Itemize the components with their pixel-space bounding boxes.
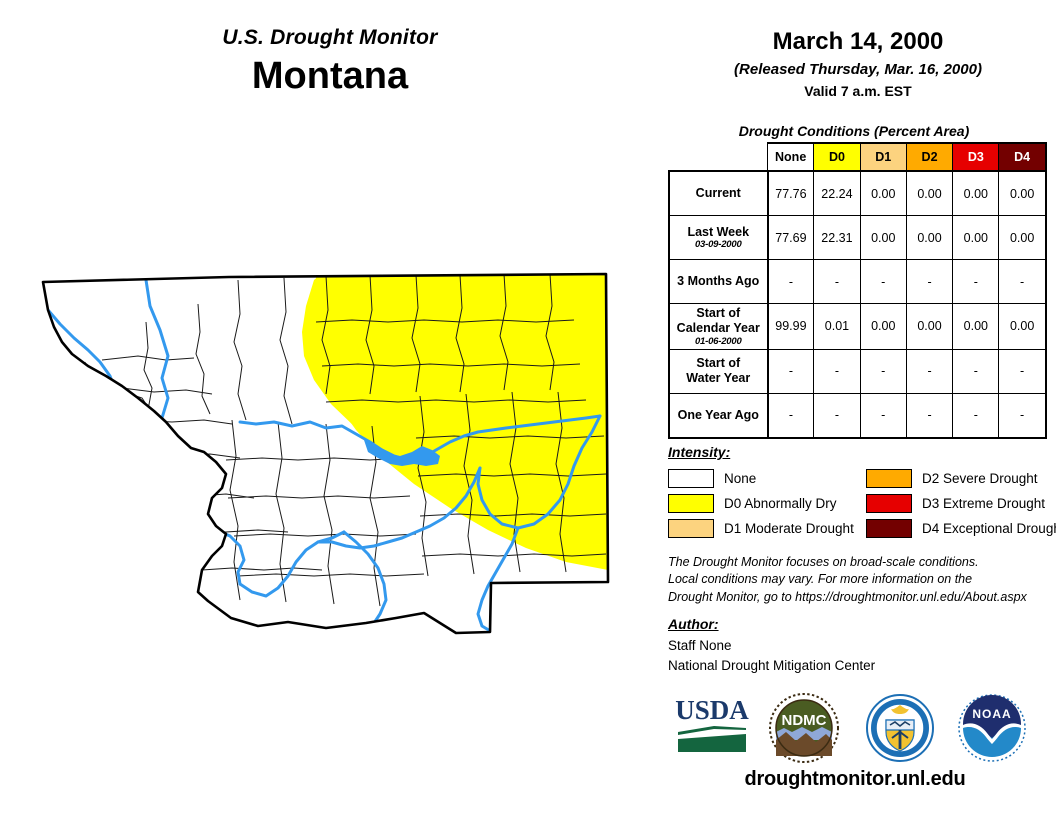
row-label-line: Last Week <box>673 225 764 240</box>
row-label-main: Current <box>673 186 764 201</box>
cell-value: - <box>881 408 885 422</box>
cell-value: - <box>789 275 793 289</box>
cell-value: 0.00 <box>917 231 941 245</box>
table-cell: 0.00 <box>906 171 952 216</box>
legend-label: D3 Extreme Drought <box>922 496 1045 511</box>
cell-value: - <box>1020 408 1024 422</box>
legend-swatch <box>866 519 912 538</box>
cell-value: - <box>881 275 885 289</box>
table-column-header-d1: D1 <box>860 143 906 171</box>
legend-column-right: D2 Severe DroughtD3 Extreme DroughtD4 Ex… <box>866 466 1056 541</box>
cell-value: - <box>927 275 931 289</box>
table-cell: - <box>814 393 860 438</box>
cell-value: - <box>835 408 839 422</box>
cell-value: 0.00 <box>1010 187 1034 201</box>
cell-value: - <box>974 364 978 378</box>
table-cell: 0.00 <box>906 304 952 350</box>
cell-value: - <box>789 408 793 422</box>
valid-date: March 14, 2000 <box>660 28 1056 57</box>
legend-item: D2 Severe Drought <box>866 466 1056 490</box>
legend-item: None <box>668 466 854 490</box>
legend-label: D2 Severe Drought <box>922 471 1038 486</box>
table-row: Start ofWater Year------ <box>669 349 1046 393</box>
row-label-date: 01-06-2000 <box>673 336 764 347</box>
cell-value: 0.00 <box>917 187 941 201</box>
legend-label: D1 Moderate Drought <box>724 521 854 536</box>
cell-value: - <box>1020 275 1024 289</box>
table-row: 3 Months Ago------ <box>669 260 1046 304</box>
legend-swatch <box>866 469 912 488</box>
table-cell: - <box>768 349 814 393</box>
montana-drought-map[interactable] <box>26 270 646 650</box>
legend-swatch <box>866 494 912 513</box>
cell-value: - <box>974 275 978 289</box>
column-header-label: D1 <box>875 150 891 164</box>
table-cell: - <box>999 393 1046 438</box>
table-row-label: Current <box>669 171 768 216</box>
table-cell: - <box>814 349 860 393</box>
row-label-main: Start ofCalendar Year <box>673 306 764 336</box>
map-svg <box>26 270 646 650</box>
table-column-header-d4: D4 <box>999 143 1046 171</box>
column-header-label: D4 <box>1014 150 1030 164</box>
cell-value: - <box>927 408 931 422</box>
table-header: NoneD0D1D2D3D4 <box>669 143 1046 171</box>
table-cell: - <box>999 260 1046 304</box>
table-cell: - <box>999 349 1046 393</box>
footer-url[interactable]: droughtmonitor.unl.edu <box>660 768 1050 791</box>
table-cell: 99.99 <box>768 304 814 350</box>
legend-swatch <box>668 494 714 513</box>
author-name: Staff None <box>668 636 875 656</box>
row-label-line: 3 Months Ago <box>673 274 764 289</box>
cell-value: 0.00 <box>964 187 988 201</box>
table-cell: - <box>814 260 860 304</box>
table-row: Current77.7622.240.000.000.000.00 <box>669 171 1046 216</box>
noaa-logo[interactable]: NOAA <box>956 692 1028 764</box>
table-cell: - <box>953 260 999 304</box>
table-cell: 0.00 <box>953 216 999 260</box>
title-block: U.S. Drought Monitor Montana <box>0 26 660 99</box>
table-row: One Year Ago------ <box>669 393 1046 438</box>
table-cell: - <box>860 260 906 304</box>
table-row-label: 3 Months Ago <box>669 260 768 304</box>
legend-label: None <box>724 471 756 486</box>
table-caption: Drought Conditions (Percent Area) <box>660 123 1048 139</box>
table-cell: - <box>768 393 814 438</box>
column-header-label: None <box>775 150 806 164</box>
usdoc-seal-logo[interactable] <box>864 692 936 764</box>
cell-value: 0.00 <box>1010 319 1034 333</box>
author-block: Staff None National Drought Mitigation C… <box>668 636 875 676</box>
table-cell: 0.00 <box>999 216 1046 260</box>
usda-logo-text: USDA <box>675 695 749 725</box>
row-label-line: Water Year <box>673 371 764 386</box>
cell-value: 22.31 <box>821 231 852 245</box>
disclaimer-line-2: Local conditions may vary. For more info… <box>668 571 1052 588</box>
table-cell: - <box>860 349 906 393</box>
table-cell: 0.00 <box>953 304 999 350</box>
row-label-line: One Year Ago <box>673 408 764 423</box>
legend-item: D3 Extreme Drought <box>866 491 1056 515</box>
cell-value: 0.00 <box>917 319 941 333</box>
page-title: U.S. Drought Monitor <box>0 26 660 49</box>
table-row-label: Start ofWater Year <box>669 349 768 393</box>
table-column-header-d3: D3 <box>953 143 999 171</box>
row-label-line: Start of <box>673 356 764 371</box>
cell-value: - <box>974 408 978 422</box>
noaa-logo-text: NOAA <box>972 707 1011 721</box>
legend-swatch <box>668 469 714 488</box>
ndmc-logo-text: NDMC <box>782 712 827 729</box>
cell-value: 0.01 <box>825 319 849 333</box>
usda-logo[interactable]: USDA <box>674 692 750 756</box>
table-body: Current77.7622.240.000.000.000.00Last We… <box>669 171 1046 438</box>
region-title: Montana <box>0 55 660 99</box>
valid-time: Valid 7 a.m. EST <box>660 83 1056 100</box>
table-row-label: Last Week03-09-2000 <box>669 216 768 260</box>
row-label-main: Last Week <box>673 225 764 240</box>
table-cell: 0.00 <box>906 216 952 260</box>
table-row: Last Week03-09-200077.6922.310.000.000.0… <box>669 216 1046 260</box>
author-heading: Author: <box>668 616 719 632</box>
row-label-main: 3 Months Ago <box>673 274 764 289</box>
table-cell: - <box>906 260 952 304</box>
table-cell: 0.00 <box>999 171 1046 216</box>
intensity-heading: Intensity: <box>668 444 730 460</box>
table-cell: 0.00 <box>860 216 906 260</box>
date-block: March 14, 2000 (Released Thursday, Mar. … <box>660 28 1056 100</box>
cell-value: 0.00 <box>871 187 895 201</box>
table-cell: 77.76 <box>768 171 814 216</box>
legend-label: D4 Exceptional Drought <box>922 521 1056 536</box>
cell-value: 0.00 <box>871 231 895 245</box>
drought-conditions-table: NoneD0D1D2D3D4 Current77.7622.240.000.00… <box>668 142 1047 439</box>
release-date: (Released Thursday, Mar. 16, 2000) <box>660 61 1056 79</box>
table-cell: - <box>906 393 952 438</box>
row-label-line: Current <box>673 186 764 201</box>
table-column-header-d0: D0 <box>814 143 860 171</box>
cell-value: 99.99 <box>775 319 806 333</box>
table-cell: - <box>906 349 952 393</box>
disclaimer-line-1: The Drought Monitor focuses on broad-sca… <box>668 554 1052 571</box>
table-row-label: One Year Ago <box>669 393 768 438</box>
row-label-line: Start of <box>673 306 764 321</box>
row-label-main: Start ofWater Year <box>673 356 764 386</box>
disclaimer-text: The Drought Monitor focuses on broad-sca… <box>668 554 1052 606</box>
table-cell: 0.00 <box>860 304 906 350</box>
cell-value: 0.00 <box>871 319 895 333</box>
cell-value: - <box>835 364 839 378</box>
ndmc-logo[interactable]: NDMC <box>768 692 840 764</box>
table-cell: 0.00 <box>999 304 1046 350</box>
cell-value: 77.76 <box>775 187 806 201</box>
column-header-label: D0 <box>829 150 845 164</box>
table-cell: 77.69 <box>768 216 814 260</box>
column-header-label: D2 <box>922 150 938 164</box>
cell-value: - <box>789 364 793 378</box>
legend-item: D0 Abnormally Dry <box>668 491 854 515</box>
table-row: Start ofCalendar Year01-06-200099.990.01… <box>669 304 1046 350</box>
legend-item: D1 Moderate Drought <box>668 516 854 540</box>
legend-column-left: NoneD0 Abnormally DryD1 Moderate Drought <box>668 466 854 541</box>
table-column-header-none: None <box>768 143 814 171</box>
table-cell: 0.01 <box>814 304 860 350</box>
table-cell: 0.00 <box>860 171 906 216</box>
row-label-line: Calendar Year <box>673 321 764 336</box>
author-organization: National Drought Mitigation Center <box>668 656 875 676</box>
table-cell: - <box>768 260 814 304</box>
cell-value: 0.00 <box>964 231 988 245</box>
table-row-label: Start ofCalendar Year01-06-2000 <box>669 304 768 350</box>
cell-value: - <box>927 364 931 378</box>
cell-value: - <box>1020 364 1024 378</box>
table-cell: 22.24 <box>814 171 860 216</box>
cell-value: - <box>881 364 885 378</box>
table-cell: 22.31 <box>814 216 860 260</box>
table-cell: 0.00 <box>953 171 999 216</box>
table-cell: - <box>860 393 906 438</box>
table-header-row: NoneD0D1D2D3D4 <box>669 143 1046 171</box>
logo-strip: USDA NDMC <box>666 692 1050 768</box>
disclaimer-line-3: Drought Monitor, go to https://droughtmo… <box>668 589 1052 606</box>
row-label-main: One Year Ago <box>673 408 764 423</box>
table-cell: - <box>953 393 999 438</box>
legend-swatch <box>668 519 714 538</box>
info-panel: March 14, 2000 (Released Thursday, Mar. … <box>660 0 1056 816</box>
column-header-label: D3 <box>968 150 984 164</box>
cell-value: 0.00 <box>1010 231 1034 245</box>
cell-value: 77.69 <box>775 231 806 245</box>
table-cell: - <box>953 349 999 393</box>
row-label-date: 03-09-2000 <box>673 239 764 250</box>
legend-label: D0 Abnormally Dry <box>724 496 837 511</box>
legend-item: D4 Exceptional Drought <box>866 516 1056 540</box>
cell-value: 22.24 <box>821 187 852 201</box>
table-column-header-d2: D2 <box>906 143 952 171</box>
table-corner-cell <box>669 143 768 171</box>
map-panel: U.S. Drought Monitor Montana <box>0 0 660 816</box>
cell-value: 0.00 <box>964 319 988 333</box>
cell-value: - <box>835 275 839 289</box>
